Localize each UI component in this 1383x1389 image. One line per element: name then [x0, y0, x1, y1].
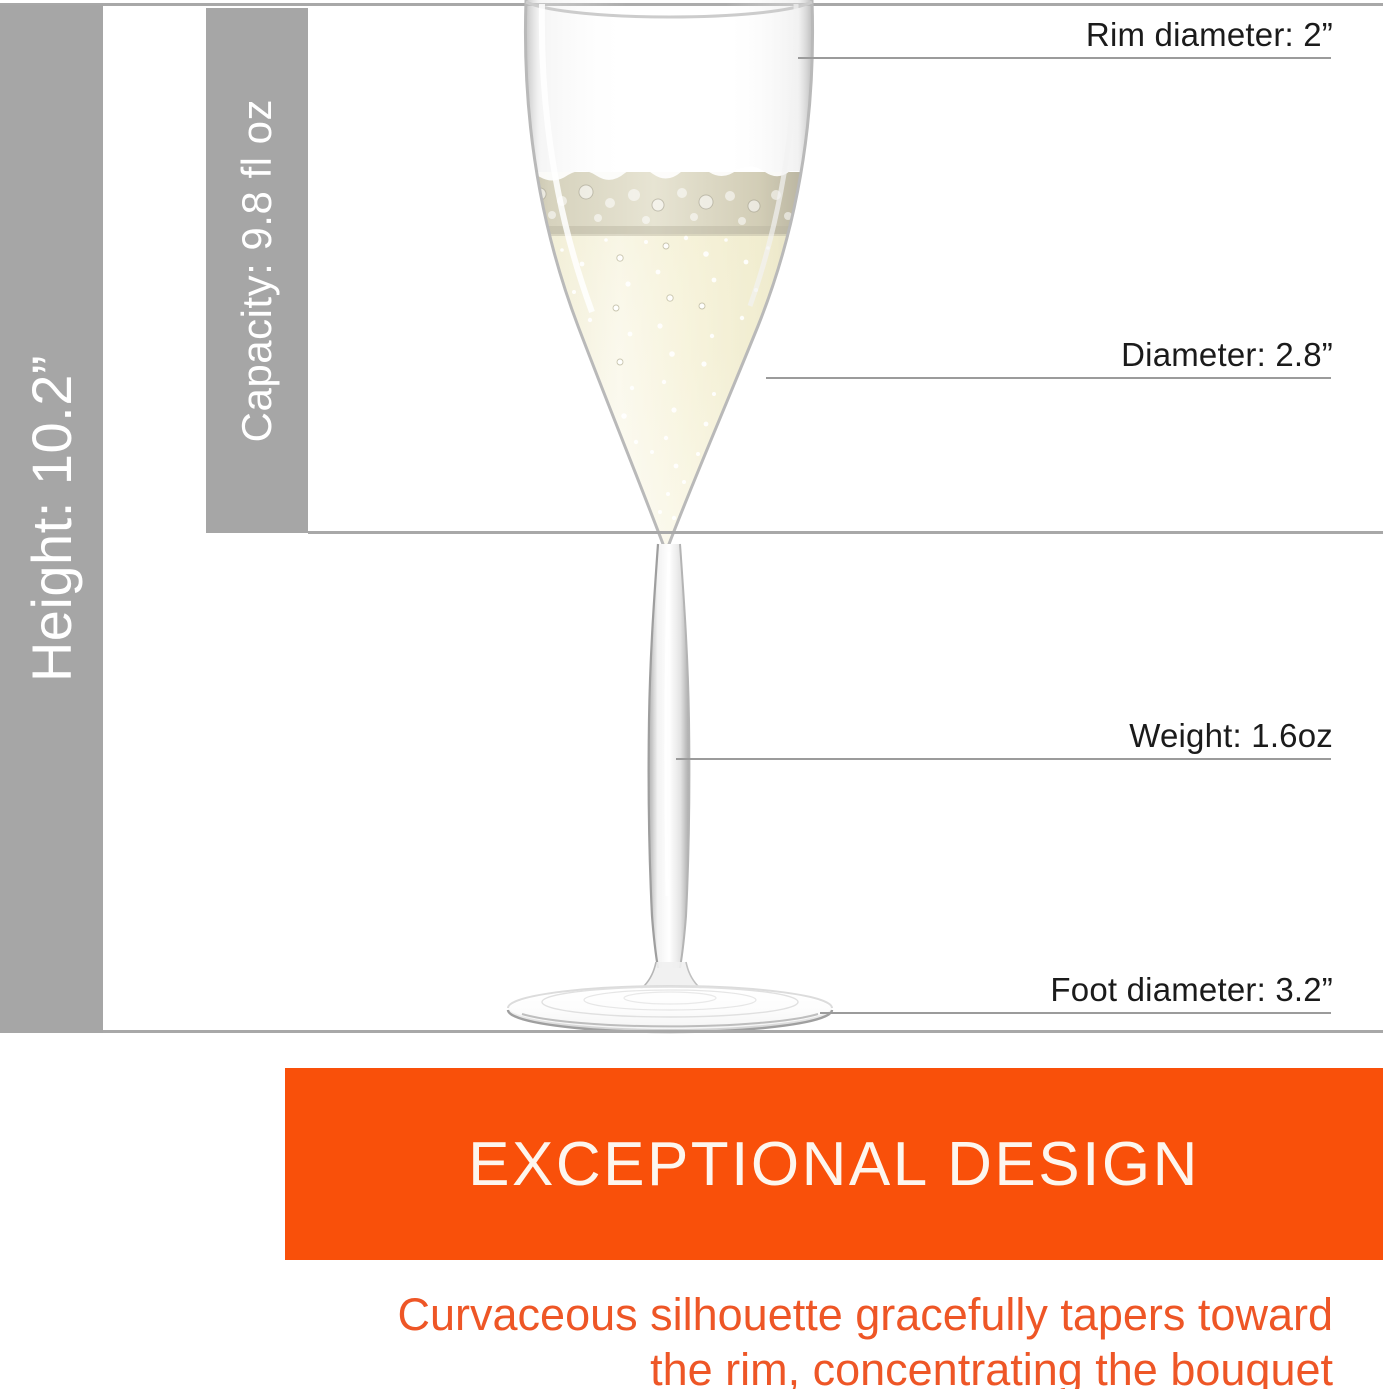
- rim-diameter-callout: Rim diameter: 2”: [1086, 16, 1333, 54]
- rim-diameter-leader-line: [798, 57, 1331, 59]
- diameter-callout: Diameter: 2.8”: [1121, 336, 1333, 374]
- height-guide-rule: [103, 1030, 1383, 1033]
- height-dimension-bar: Height: 10.2”: [0, 5, 103, 1033]
- exceptional-design-banner: EXCEPTIONAL DESIGN: [285, 1068, 1383, 1260]
- foot-diameter-callout: Foot diameter: 3.2”: [1050, 971, 1333, 1009]
- capacity-dimension-bar: Capacity: 9.8 fl oz: [206, 8, 308, 533]
- champagne-glass-image: [470, 0, 870, 1036]
- caption-line-2: the rim, concentrating the bouquet: [150, 1343, 1333, 1389]
- foot-diameter-leader-line: [820, 1012, 1331, 1014]
- weight-callout: Weight: 1.6oz: [1129, 717, 1333, 755]
- banner-title: EXCEPTIONAL DESIGN: [468, 1129, 1200, 1200]
- caption-line-1: Curvaceous silhouette gracefully tapers …: [150, 1288, 1333, 1343]
- design-caption: Curvaceous silhouette gracefully tapers …: [150, 1288, 1333, 1389]
- height-label: Height: 10.2”: [19, 355, 84, 682]
- capacity-guide-rule: [308, 531, 1383, 534]
- infographic-canvas: Height: 10.2” Capacity: 9.8 fl oz Rim di…: [0, 0, 1383, 1389]
- weight-leader-line: [676, 758, 1331, 760]
- diameter-leader-line: [766, 377, 1331, 379]
- capacity-label: Capacity: 9.8 fl oz: [233, 99, 281, 442]
